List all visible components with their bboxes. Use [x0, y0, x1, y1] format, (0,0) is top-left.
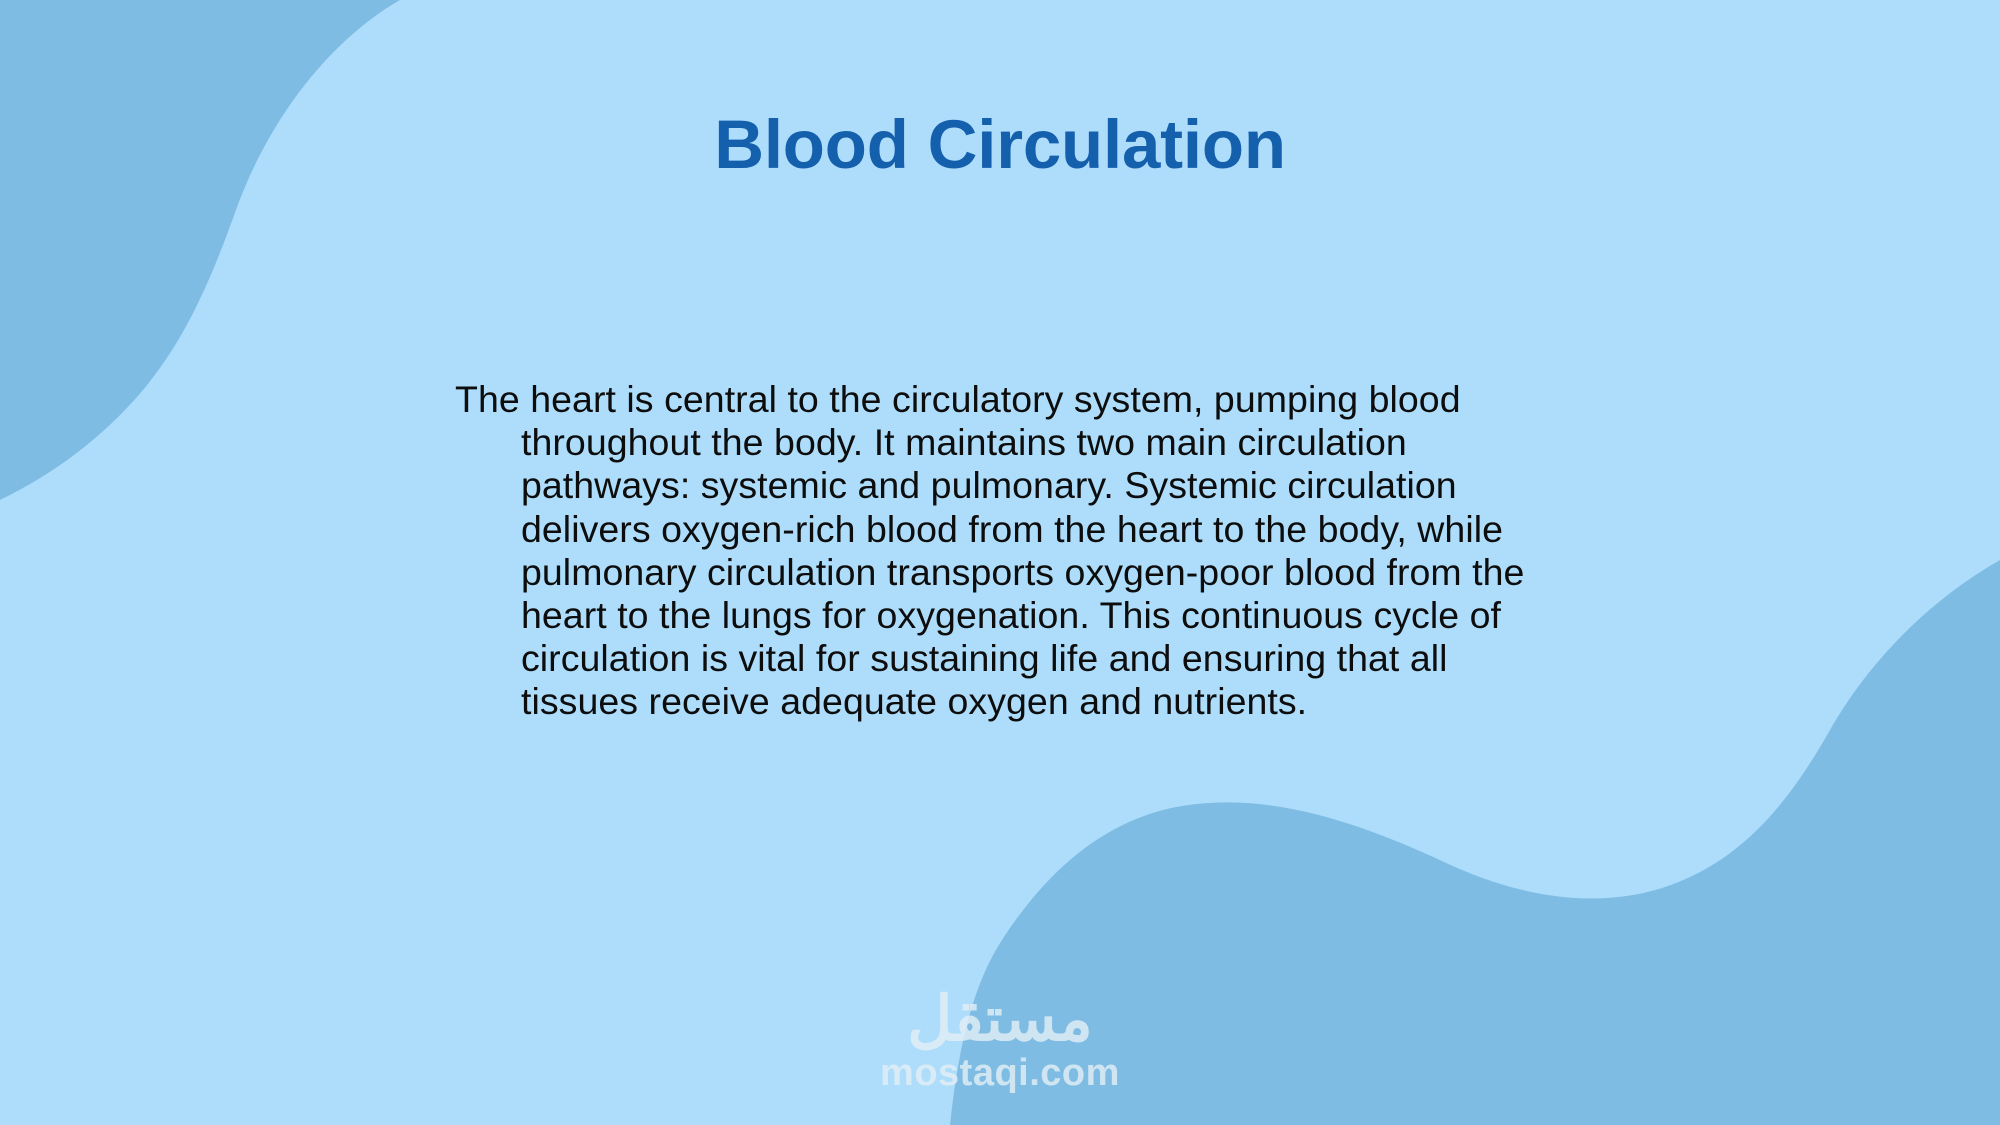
title-container: Blood Circulation [0, 108, 2000, 183]
wave-shape-top-left [0, 0, 400, 500]
page-title: Blood Circulation [714, 108, 1286, 183]
body-container: The heart is central to the circulatory … [455, 378, 1575, 724]
body-paragraph: The heart is central to the circulatory … [455, 378, 1575, 724]
slide-canvas: Blood Circulation The heart is central t… [0, 0, 2000, 1125]
